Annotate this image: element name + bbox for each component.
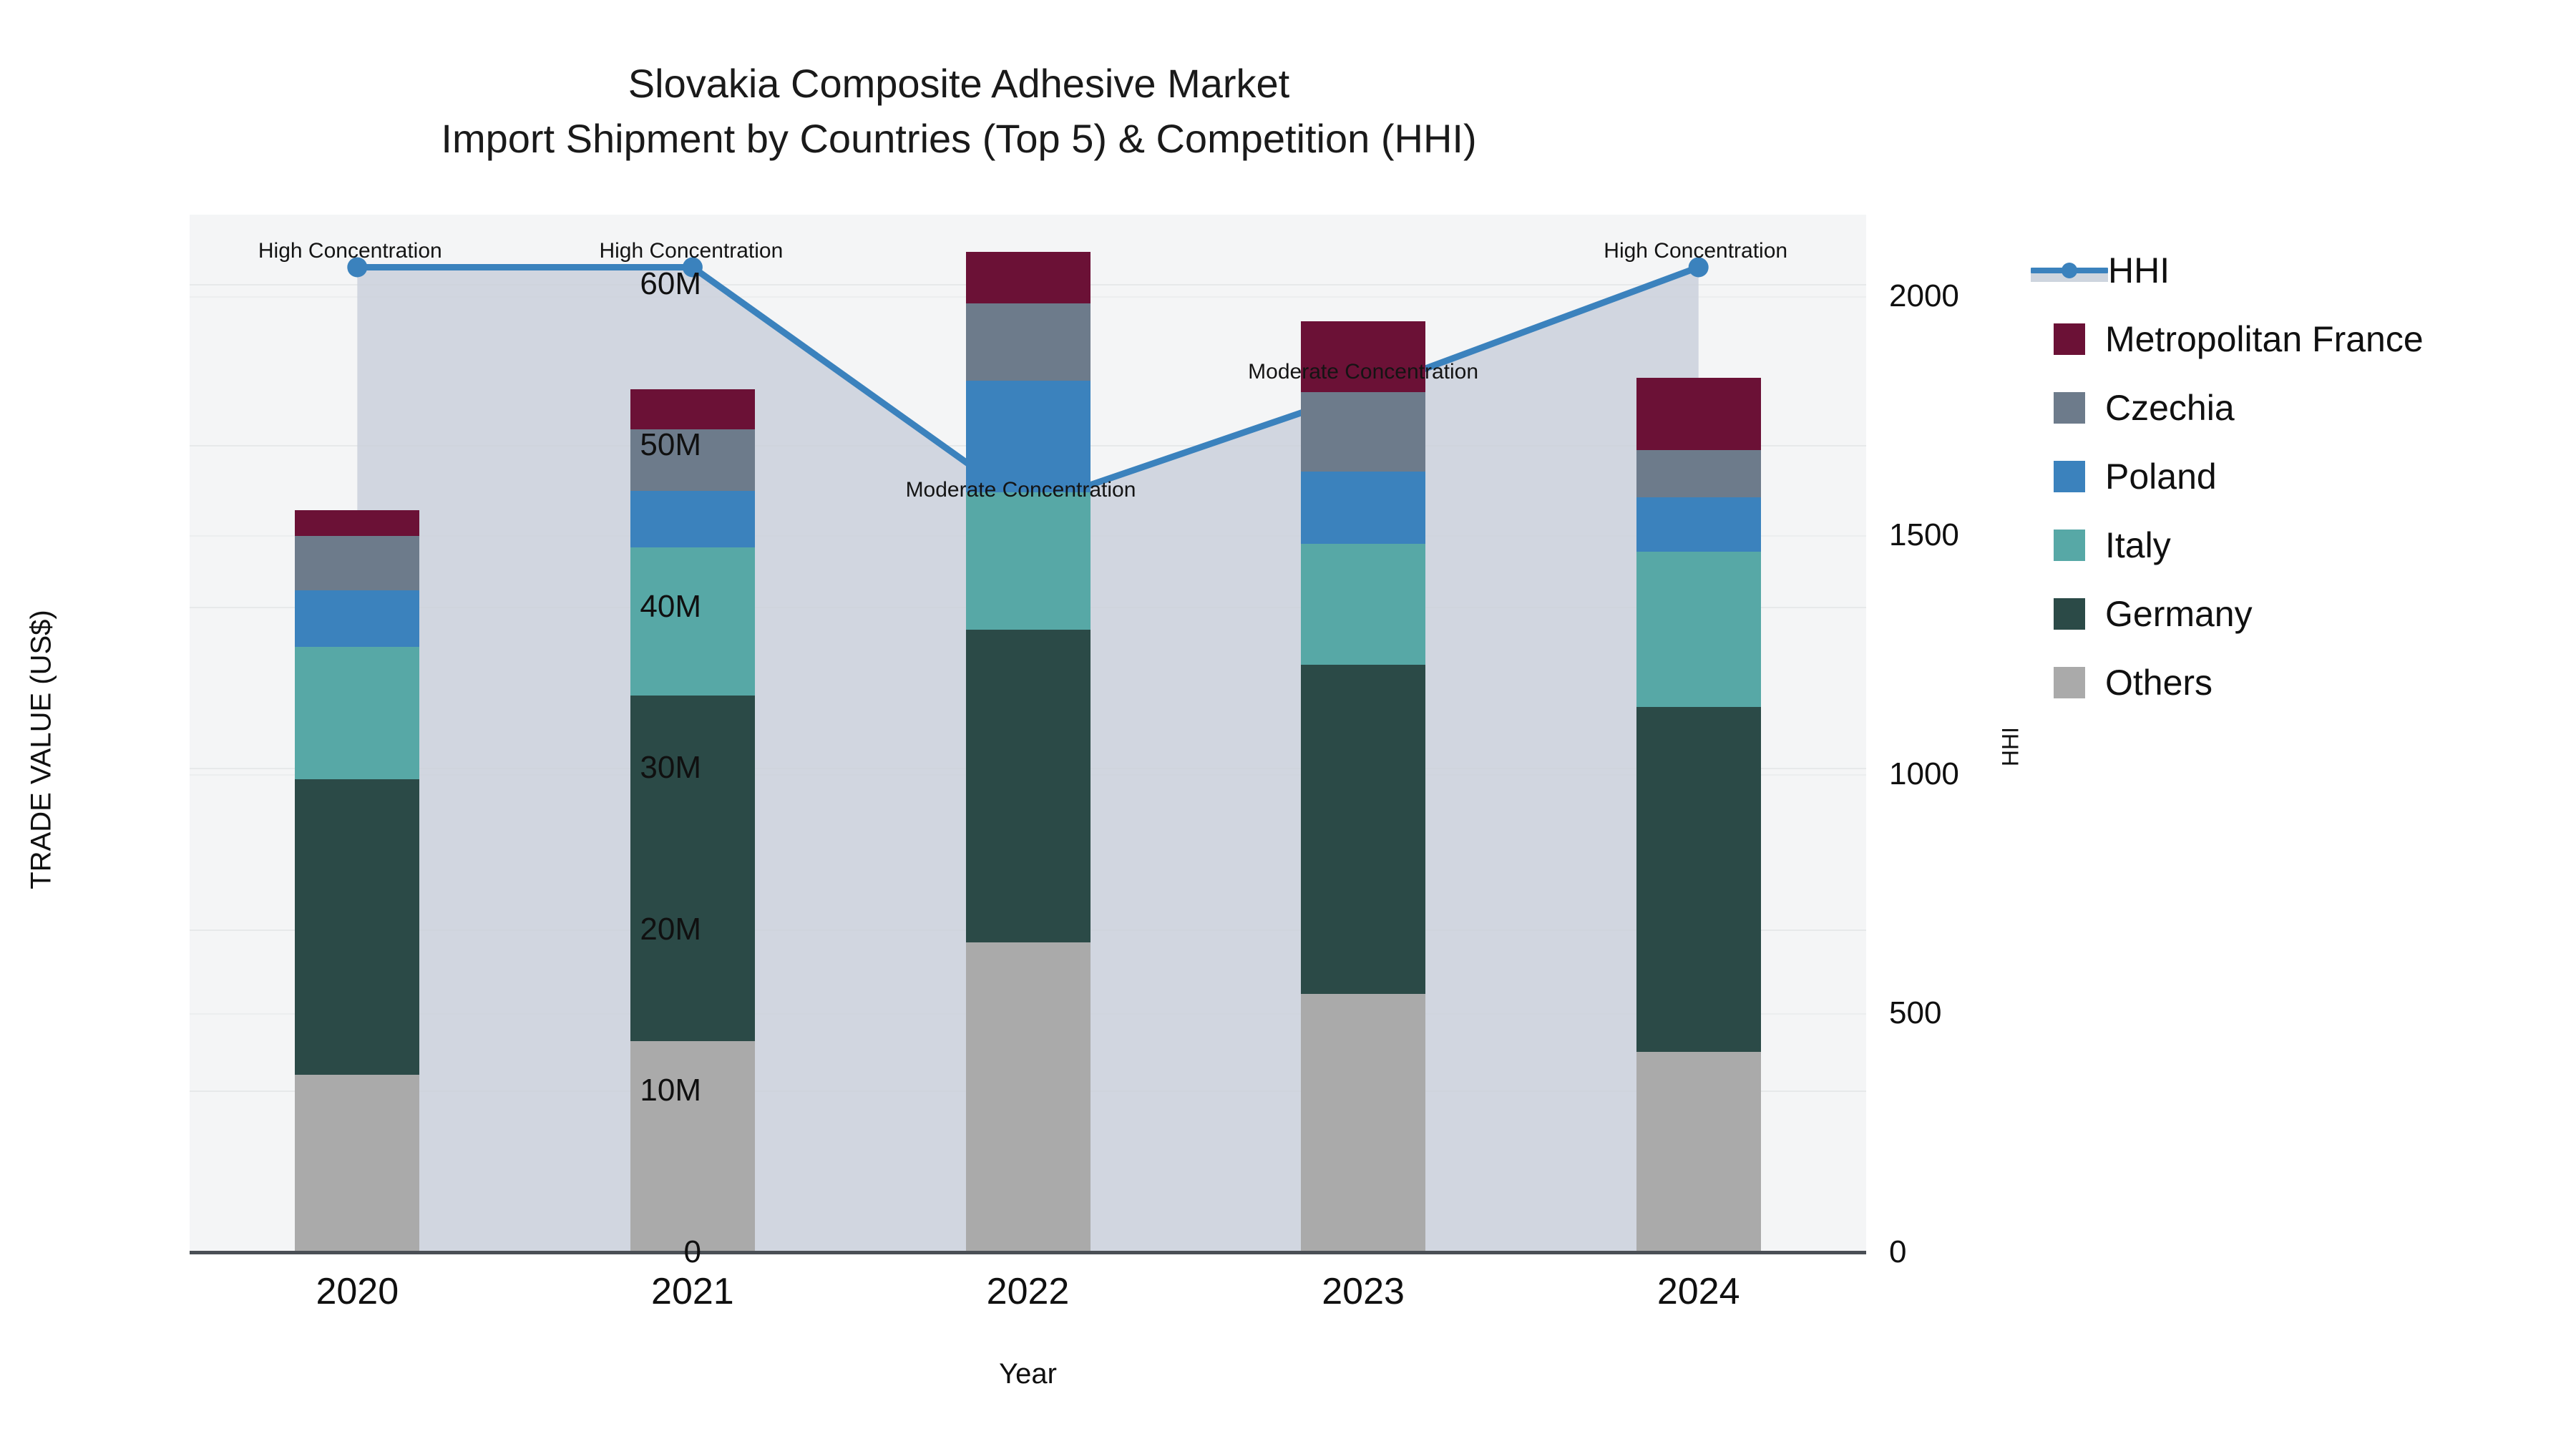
x-axis-tick-label: 2023	[1322, 1270, 1405, 1313]
legend-item-label: Czechia	[2105, 387, 2235, 429]
legend-line-marker-icon	[2031, 255, 2108, 286]
x-axis-tick-label: 2021	[651, 1270, 734, 1313]
legend: HHIMetropolitan FranceCzechiaPolandItaly…	[2054, 236, 2555, 717]
legend-color-swatch	[2054, 530, 2085, 561]
bar-segment[interactable]	[1301, 665, 1425, 994]
y-axis-right-tick-label: 2000	[1889, 278, 1959, 314]
legend-item[interactable]: Germany	[2054, 580, 2555, 648]
bar-segment[interactable]	[1301, 994, 1425, 1252]
legend-color-swatch	[2054, 323, 2085, 355]
bar-segment[interactable]	[630, 696, 755, 1041]
legend-item[interactable]: Others	[2054, 648, 2555, 717]
y-axis-left-tick-label: 30M	[640, 750, 701, 786]
bar-segment[interactable]	[1636, 552, 1761, 706]
bar-segment[interactable]	[966, 381, 1091, 492]
x-axis-label: Year	[190, 1358, 1866, 1390]
legend-item[interactable]: Poland	[2054, 442, 2555, 511]
bar-segment[interactable]	[295, 779, 419, 1075]
y-axis-left-label: TRADE VALUE (US$)	[26, 521, 58, 979]
legend-color-swatch	[2054, 392, 2085, 424]
y-axis-right-tick-label: 1500	[1889, 517, 1959, 553]
bar-group[interactable]	[1636, 215, 1761, 1252]
bar-segment[interactable]	[1636, 450, 1761, 497]
y-axis-right-tick-label: 500	[1889, 995, 1941, 1031]
x-axis-tick-label: 2024	[1657, 1270, 1740, 1313]
bar-segment[interactable]	[966, 942, 1091, 1252]
y-axis-left-tick-label: 40M	[640, 589, 701, 625]
y-axis-left-tick-label: 50M	[640, 427, 701, 463]
y-axis-right-tick-label: 1000	[1889, 756, 1959, 792]
legend-color-swatch	[2054, 598, 2085, 630]
legend-item[interactable]: Metropolitan France	[2054, 305, 2555, 374]
bar-segment[interactable]	[1636, 497, 1761, 552]
y-axis-left-tick-label: 10M	[640, 1073, 701, 1108]
bar-segment[interactable]	[630, 491, 755, 547]
legend-item[interactable]: Italy	[2054, 511, 2555, 580]
bar-segment[interactable]	[1636, 707, 1761, 1053]
y-axis-right-label: HHI	[1998, 625, 2024, 869]
bar-segment[interactable]	[295, 590, 419, 647]
bar-group[interactable]	[295, 215, 419, 1252]
bar-segment[interactable]	[1636, 378, 1761, 450]
legend-item-label: HHI	[2108, 250, 2170, 291]
bar-segment[interactable]	[966, 252, 1091, 303]
bar-segment[interactable]	[966, 630, 1091, 942]
y-axis-left-tick-label: 20M	[640, 912, 701, 947]
legend-item-label: Others	[2105, 662, 2212, 703]
x-axis-tick-label: 2020	[316, 1270, 399, 1313]
bar-group[interactable]	[966, 215, 1091, 1252]
bar-segment[interactable]	[295, 536, 419, 591]
bar-segment[interactable]	[1301, 472, 1425, 544]
chart-title: Slovakia Composite Adhesive Market Impor…	[0, 56, 1918, 167]
legend-item-label: Metropolitan France	[2105, 318, 2424, 360]
bar-segment[interactable]	[1301, 392, 1425, 471]
x-axis-tick-label: 2022	[987, 1270, 1070, 1313]
bar-segment[interactable]	[966, 303, 1091, 381]
plot-inner	[190, 215, 1866, 1252]
legend-item-label: Germany	[2105, 593, 2253, 635]
legend-color-swatch	[2054, 667, 2085, 698]
bar-segment[interactable]	[295, 1075, 419, 1252]
legend-color-swatch	[2054, 461, 2085, 492]
legend-item[interactable]: HHI	[2054, 236, 2555, 305]
concentration-annotation: High Concentration	[1604, 239, 1787, 263]
bar-segment[interactable]	[966, 492, 1091, 630]
legend-item[interactable]: Czechia	[2054, 374, 2555, 442]
bar-segment[interactable]	[295, 510, 419, 536]
legend-item-label: Poland	[2105, 456, 2217, 497]
x-axis-line	[190, 1251, 1866, 1254]
concentration-annotation: High Concentration	[599, 239, 783, 263]
bar-segment[interactable]	[630, 389, 755, 429]
y-axis-left-tick-label: 0	[684, 1234, 701, 1270]
legend-item-label: Italy	[2105, 525, 2171, 566]
plot-area	[190, 215, 1866, 1252]
concentration-annotation: Moderate Concentration	[906, 478, 1136, 502]
bar-segment[interactable]	[295, 647, 419, 779]
y-axis-right-tick-label: 0	[1889, 1234, 1906, 1270]
y-axis-left-tick-label: 60M	[640, 266, 701, 302]
bar-segment[interactable]	[1301, 544, 1425, 665]
concentration-annotation: High Concentration	[258, 239, 442, 263]
concentration-annotation: Moderate Concentration	[1248, 360, 1478, 384]
bar-segment[interactable]	[1636, 1052, 1761, 1252]
